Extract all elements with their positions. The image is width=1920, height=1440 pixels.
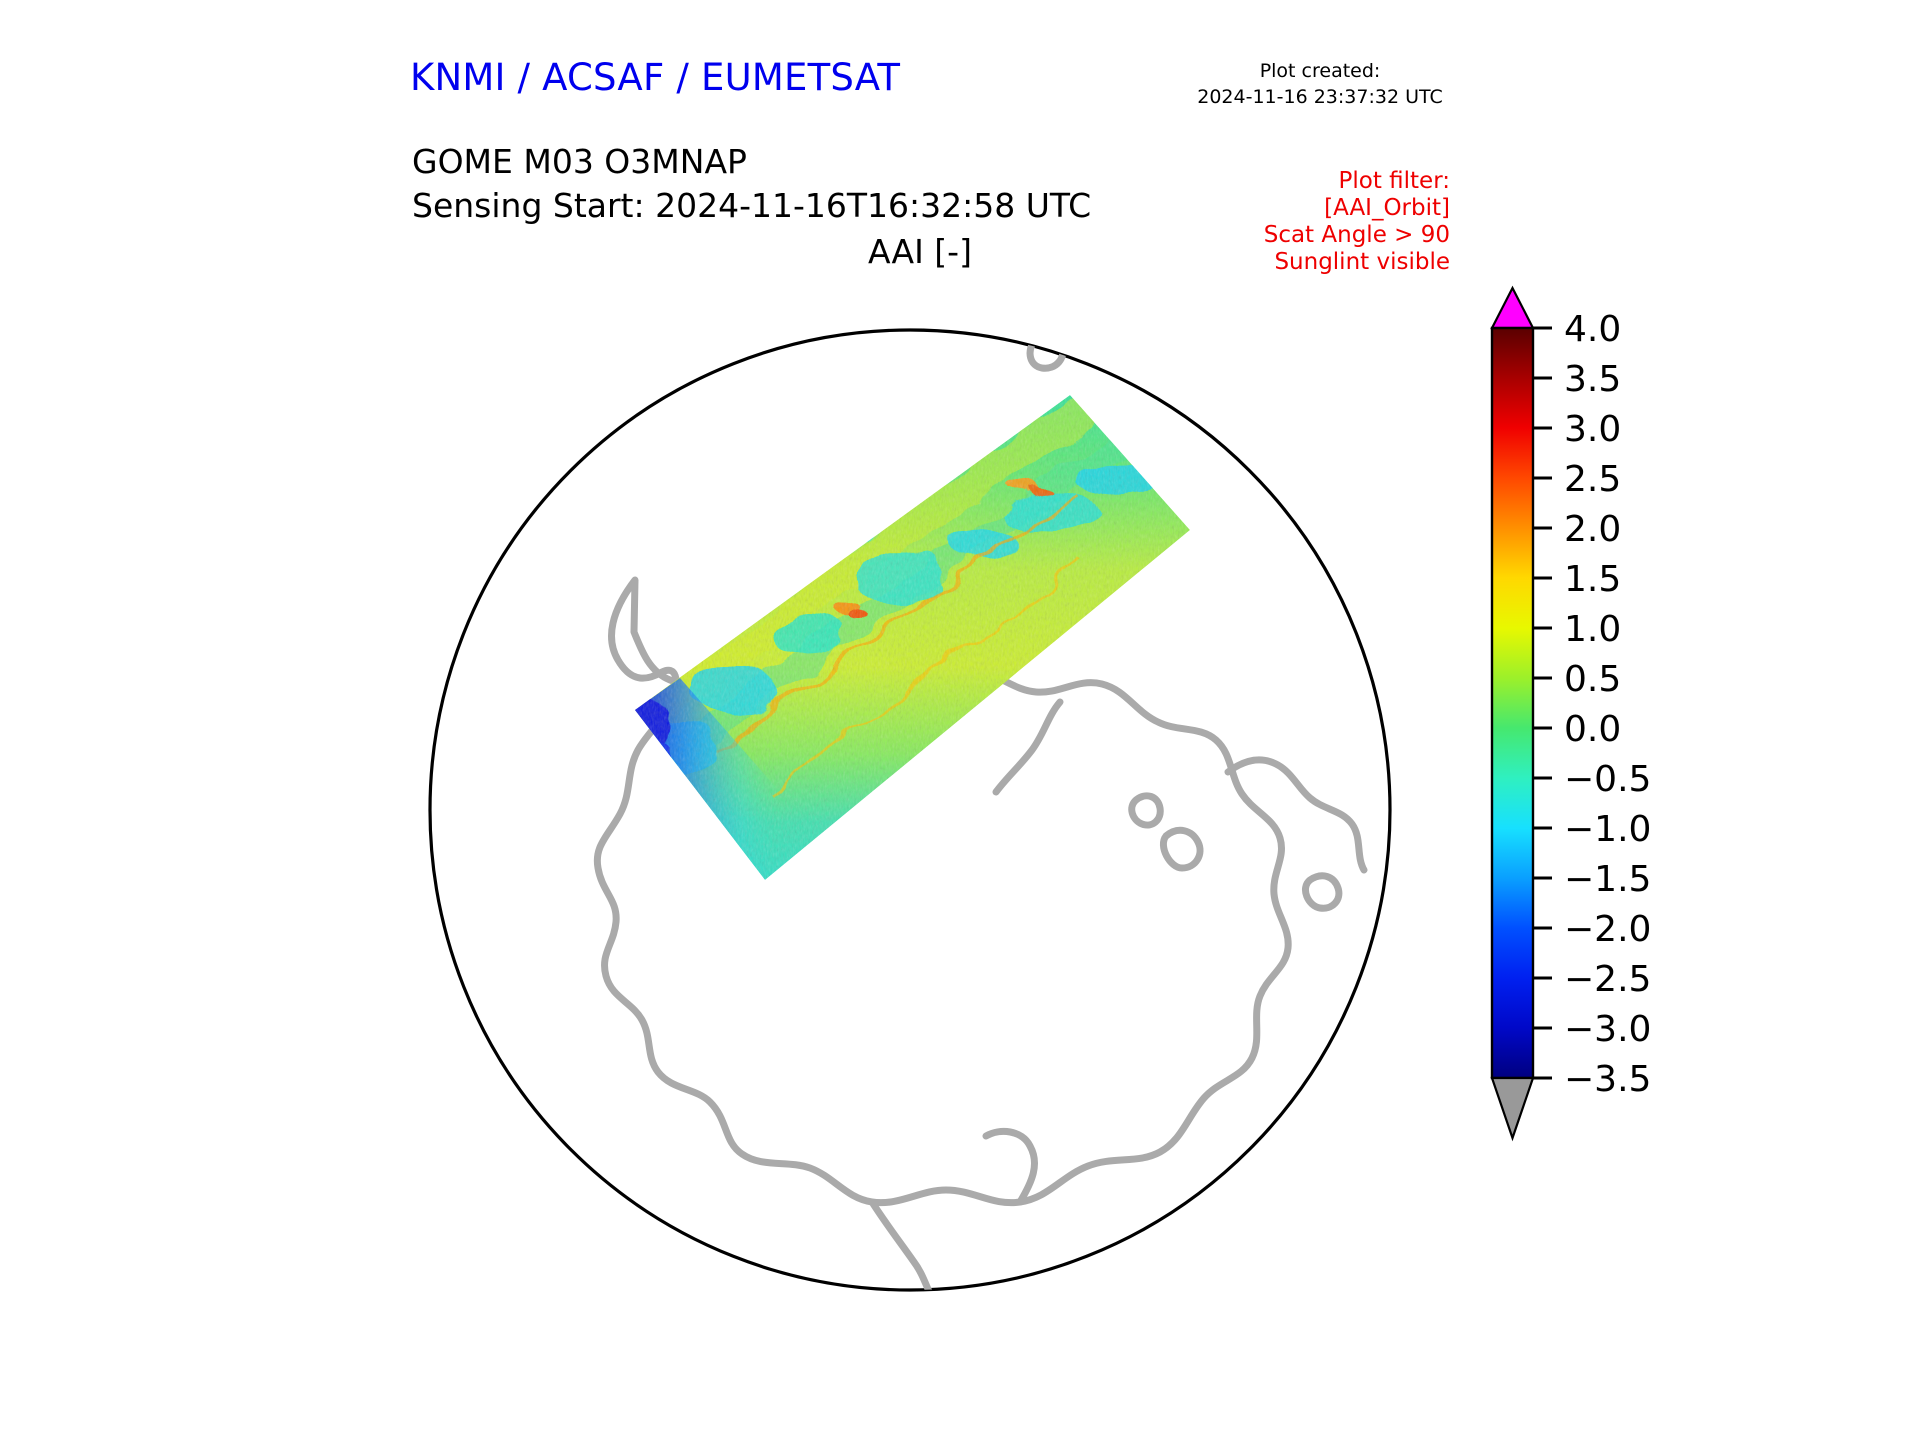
instrument-line: GOME M03 O3MNAP <box>412 140 1091 184</box>
colorbar-tick-label: −1.0 <box>1564 809 1651 850</box>
colorbar-tick-label: 0.0 <box>1564 709 1621 750</box>
plot-created-block: Plot created: 2024-11-16 23:37:32 UTC <box>1160 58 1480 110</box>
colorbar-gradient <box>1492 328 1533 1078</box>
filter-line-1: Plot filter: <box>1190 168 1450 195</box>
colorbar-tick-label: 4.0 <box>1564 309 1621 350</box>
colorbar-tick-label: −2.5 <box>1564 959 1651 1000</box>
colorbar-under-arrow <box>1492 1078 1533 1138</box>
plot-filter-block: Plot filter: [AAI_Orbit] Scat Angle > 90… <box>1190 168 1450 276</box>
filter-line-2: [AAI_Orbit] <box>1190 195 1450 222</box>
colorbar-tick-label: 1.0 <box>1564 609 1621 650</box>
plot-created-label: Plot created: <box>1160 58 1480 84</box>
colorbar-svg: 4.0 3.5 3.0 2.5 2.0 1.5 1.0 0.5 0.0 −0.5… <box>1440 280 1740 1340</box>
colorbar: 4.0 3.5 3.0 2.5 2.0 1.5 1.0 0.5 0.0 −0.5… <box>1440 280 1740 1340</box>
colorbar-tick-label: −2.0 <box>1564 909 1651 950</box>
map-plot-area <box>380 280 1440 1340</box>
sensing-start-line: Sensing Start: 2024-11-16T16:32:58 UTC <box>412 184 1091 228</box>
colorbar-tick-label: 1.5 <box>1564 559 1621 600</box>
plot-created-timestamp: 2024-11-16 23:37:32 UTC <box>1160 84 1480 110</box>
globe-outline <box>430 330 1390 1290</box>
orthographic-globe <box>380 280 1440 1340</box>
organisation-title: KNMI / ACSAF / EUMETSAT <box>410 56 900 99</box>
plot-title: AAI [-] <box>640 232 1200 271</box>
colorbar-tick-label: −0.5 <box>1564 759 1651 800</box>
colorbar-tick-label: 3.5 <box>1564 359 1621 400</box>
colorbar-tick-label: −1.5 <box>1564 859 1651 900</box>
filter-line-4: Sunglint visible <box>1190 249 1450 276</box>
dataset-info-block: GOME M03 O3MNAP Sensing Start: 2024-11-1… <box>412 140 1091 228</box>
colorbar-tick-label: 2.0 <box>1564 509 1621 550</box>
filter-line-3: Scat Angle > 90 <box>1190 222 1450 249</box>
colorbar-tick-label: 3.0 <box>1564 409 1621 450</box>
colorbar-tick-labels: 4.0 3.5 3.0 2.5 2.0 1.5 1.0 0.5 0.0 −0.5… <box>1564 309 1651 1100</box>
colorbar-tick-label: −3.5 <box>1564 1059 1651 1100</box>
colorbar-tick-label: 0.5 <box>1564 659 1621 700</box>
colorbar-tick-label: 2.5 <box>1564 459 1621 500</box>
colorbar-over-arrow <box>1492 288 1533 328</box>
colorbar-ticks <box>1533 328 1552 1078</box>
colorbar-tick-label: −3.0 <box>1564 1009 1651 1050</box>
